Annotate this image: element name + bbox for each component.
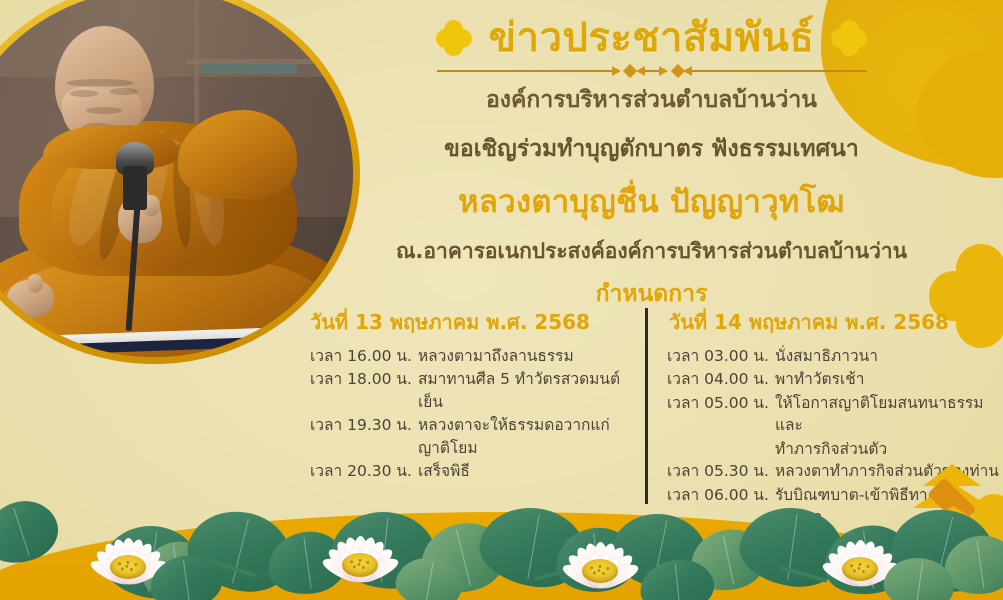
event-detail: ให้โอกาสญาติโยมสนทนาธรรมและ	[775, 392, 1003, 437]
organization-name: องค์การบริหารส่วนตำบลบ้านว่าน	[300, 82, 1003, 118]
title-divider-ornament	[437, 64, 867, 78]
page-title: ข่าวประชาสัมพันธ์	[489, 16, 815, 61]
monk-name: หลวงตาบุญชื่น ปัญญาวุทโฒ	[300, 176, 1003, 226]
schedule-event: เวลา 05.00 น. ให้โอกาสญาติโยมสนทนาธรรมแล…	[667, 392, 1003, 437]
event-time: เวลา 20.30 น.	[310, 460, 418, 482]
event-time: เวลา 04.00 น.	[667, 368, 775, 390]
schedule-event: เวลา 18.00 น. สมาทานศีล 5 ทำวัตรสวดมนต์เ…	[300, 368, 627, 413]
event-time: เวลา 19.30 น.	[310, 414, 418, 459]
event-detail: หลวงตามาถึงลานธรรม	[418, 345, 627, 367]
header-block: ข่าวประชาสัมพันธ์ องค์การบริหารส่วนตำบลบ…	[300, 16, 1003, 312]
flower-ornament-left-icon	[437, 21, 471, 55]
event-detail: พาทำวัตรเช้า	[775, 368, 1003, 390]
event-detail: หลวงตาทำภารกิจส่วนตัวของท่าน	[775, 460, 1003, 482]
schedule-event: เวลา 20.30 น. เสร็จพิธี	[300, 460, 627, 482]
schedule-event: เวลา 16.00 น. หลวงตามาถึงลานธรรม	[300, 345, 627, 367]
schedule-column-day1: วันที่ 13 พฤษภาคม พ.ศ. 2568 เวลา 16.00 น…	[300, 306, 645, 575]
schedule-event: เวลา 06.00 น. รับบิณฑบาต-เข้าพิธีทางพุทธ…	[667, 484, 1003, 529]
schedule-event: เวลา 05.30 น. หลวงตาทำภารกิจส่วนตัวของท่…	[667, 460, 1003, 482]
event-time: เวลา 05.00 น.	[667, 392, 775, 437]
title-row: ข่าวประชาสัมพันธ์	[300, 16, 1003, 61]
event-detail: รับบิณฑบาต-เข้าพิธีทางพุทธศาสนา	[775, 484, 1003, 529]
lotus-flower-icon	[68, 490, 188, 594]
poster-canvas: ข่าวประชาสัมพันธ์ องค์การบริหารส่วนตำบลบ…	[0, 0, 1003, 600]
day1-heading: วันที่ 13 พฤษภาคม พ.ศ. 2568	[310, 306, 627, 338]
schedule-section: วันที่ 13 พฤษภาคม พ.ศ. 2568 เวลา 16.00 น…	[300, 306, 1003, 575]
event-detail-continuation: ไหว้พระรับศีลถวายทาน พิจารณา อาหาร อนุโม…	[667, 530, 1003, 575]
event-detail: หลวงตาจะให้ธรรมดอวากแก่ญาติโยม	[418, 414, 627, 459]
invitation-line: ขอเชิญร่วมทำบุญตักบาตร ฟังธรรมเทศนา	[300, 131, 1003, 167]
schedule-event: เวลา 19.30 น. หลวงตาจะให้ธรรมดอวากแก่ญาต…	[300, 414, 627, 459]
event-detail-continuation: ทำภารกิจส่วนตัว	[667, 438, 1003, 460]
event-detail: เสร็จพิธี	[418, 460, 627, 482]
flower-ornament-right-icon	[832, 21, 866, 55]
schedule-event: เวลา 04.00 น. พาทำวัตรเช้า	[667, 368, 1003, 390]
event-detail: สมาทานศีล 5 ทำวัตรสวดมนต์เย็น	[418, 368, 627, 413]
schedule-event: เวลา 03.00 น. นั่งสมาธิภาวนา	[667, 345, 1003, 367]
schedule-column-day2: วันที่ 14 พฤษภาคม พ.ศ. 2568 เวลา 03.00 น…	[645, 306, 1003, 575]
day2-heading: วันที่ 14 พฤษภาคม พ.ศ. 2568	[669, 306, 1003, 338]
event-time: เวลา 16.00 น.	[310, 345, 418, 367]
event-time: เวลา 03.00 น.	[667, 345, 775, 367]
event-time: เวลา 05.30 น.	[667, 460, 775, 482]
event-time: เวลา 18.00 น.	[310, 368, 418, 413]
event-time: เวลา 06.00 น.	[667, 484, 775, 529]
venue-line: ณ.อาคารอเนกประสงค์องค์การบริหารส่วนตำบลบ…	[300, 235, 1003, 268]
event-detail: นั่งสมาธิภาวนา	[775, 345, 1003, 367]
